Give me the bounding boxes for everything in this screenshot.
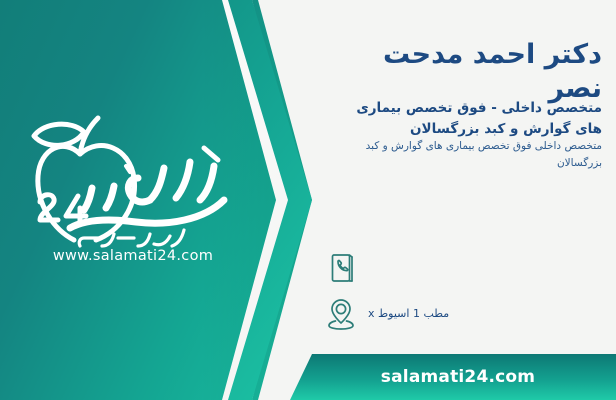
doctor-name: دکتر احمد مدحت نصر: [324, 38, 602, 106]
tagline-stroke-1: [154, 236, 170, 245]
footer-bar: salamati24.com: [290, 354, 616, 400]
apple-leaf-icon: [34, 124, 84, 145]
contact-row-location[interactable]: مطب 1 اسیوط x: [324, 294, 600, 334]
doctor-specialty-primary: متخصص داخلی - فوق تخصص بیماری های گوارش …: [334, 98, 602, 140]
logo-alef-stroke: [200, 166, 214, 200]
business-card: www.salamati24.com دکتر احمد مدحت نصر مت…: [0, 0, 616, 400]
logo-lam-stroke: [176, 162, 190, 198]
logo-mim-bowl: [128, 178, 150, 202]
logo-website-url: www.salamati24.com: [38, 248, 228, 264]
contact-list: مطب 1 اسیوط x: [324, 248, 600, 340]
contact-row-phone[interactable]: [324, 248, 600, 288]
footer-website[interactable]: salamati24.com: [381, 367, 535, 387]
logo-noon-stroke: [84, 188, 92, 210]
tagline-stroke-2: [138, 234, 150, 246]
location-pin-icon[interactable]: [324, 294, 358, 334]
phone-book-icon[interactable]: [324, 248, 358, 288]
doctor-specialty-secondary: متخصص داخلی فوق تخصص بیماری های گوارش و …: [334, 138, 602, 172]
logo-teh-stroke: [106, 186, 114, 208]
contact-location-label: مطب 1 اسیوط x: [368, 306, 449, 321]
logo-mim-stroke: [150, 168, 164, 200]
logo-madd-stroke: [204, 148, 218, 160]
salamati24-logo: [18, 104, 242, 264]
tagline-stroke-6: [172, 230, 184, 246]
